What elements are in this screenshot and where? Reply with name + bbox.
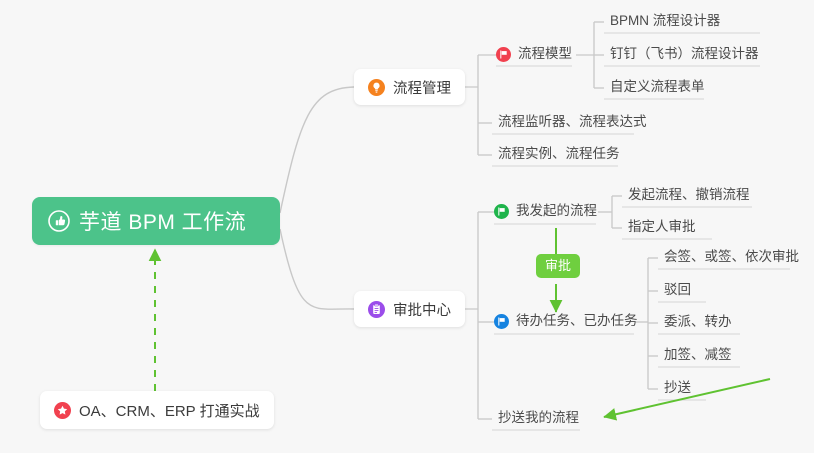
node-label-my-initiated-flows: 我发起的流程 [516,202,597,220]
node-label-reject: 驳回 [664,282,691,297]
node-label-countersign: 会签、或签、依次审批 [664,249,799,264]
flag-icon [494,314,509,329]
branch-node-process-management[interactable]: 流程管理 [354,69,465,105]
node-reject[interactable]: 驳回 [658,281,697,303]
node-cc[interactable]: 抄送 [658,379,697,401]
star-icon [54,402,71,419]
callout-text-approval: 审批 [545,258,571,273]
node-countersign[interactable]: 会签、或签、依次审批 [658,248,805,270]
node-delegate-transfer[interactable]: 委派、转办 [658,313,738,335]
node-label-process-model: 流程模型 [518,45,572,63]
node-instance-task[interactable]: 流程实例、流程任务 [492,145,626,167]
node-process-model[interactable]: 流程模型 [496,45,578,67]
node-cc-to-me-flows[interactable]: 抄送我的流程 [492,409,585,431]
node-listener-expression[interactable]: 流程监听器、流程表达式 [492,113,653,135]
flag-icon [494,204,509,219]
node-start-cancel-flow[interactable]: 发起流程、撤销流程 [622,186,756,208]
node-label-custom-form: 自定义流程表单 [610,79,705,94]
root-node[interactable]: 芋道 BPM 工作流 [32,197,280,245]
connector-root-to-process [280,87,354,213]
node-label-delegate-transfer: 委派、转办 [664,314,732,329]
node-label-instance-task: 流程实例、流程任务 [498,146,620,161]
node-todo-done-tasks[interactable]: 待办任务、已办任务 [494,312,644,334]
node-label-listener-expression: 流程监听器、流程表达式 [498,114,647,129]
node-label-cc: 抄送 [664,380,691,395]
annotation-label-integration: OA、CRM、ERP 打通实战 [79,400,260,421]
branch-label-approval-center: 审批中心 [393,299,451,320]
callout-label-approval: 审批 [536,254,580,278]
node-label-dingtalk-designer: 钉钉（飞书）流程设计器 [610,46,759,61]
node-label-add-remove-sign: 加签、减签 [664,347,732,362]
node-bpmn-designer[interactable]: BPMN 流程设计器 [604,12,726,34]
node-dingtalk-designer[interactable]: 钉钉（飞书）流程设计器 [604,45,765,67]
node-label-start-cancel-flow: 发起流程、撤销流程 [628,187,750,202]
document-icon [368,301,385,318]
node-my-initiated-flows[interactable]: 我发起的流程 [494,202,603,224]
mindmap-canvas: 芋道 BPM 工作流 流程管理 流程模型 BPMN 流程设计器 钉钉（飞书）流程 [0,0,814,453]
node-custom-form[interactable]: 自定义流程表单 [604,78,711,100]
node-assignee-approval[interactable]: 指定人审批 [622,218,702,240]
branch-node-approval-center[interactable]: 审批中心 [354,291,465,327]
branch-label-process-management: 流程管理 [393,77,451,98]
root-node-label: 芋道 BPM 工作流 [79,206,246,236]
lightbulb-icon [368,79,385,96]
node-label-bpmn-designer: BPMN 流程设计器 [610,13,720,28]
connector-root-to-approval [280,229,354,309]
node-label-todo-done-tasks: 待办任务、已办任务 [516,312,638,330]
node-label-cc-to-me-flows: 抄送我的流程 [498,410,579,425]
node-add-remove-sign[interactable]: 加签、减签 [658,346,738,368]
node-label-assignee-approval: 指定人审批 [628,219,696,234]
flag-icon [496,47,511,62]
thumbs-up-icon [48,210,70,232]
annotation-card-integration[interactable]: OA、CRM、ERP 打通实战 [40,391,274,429]
